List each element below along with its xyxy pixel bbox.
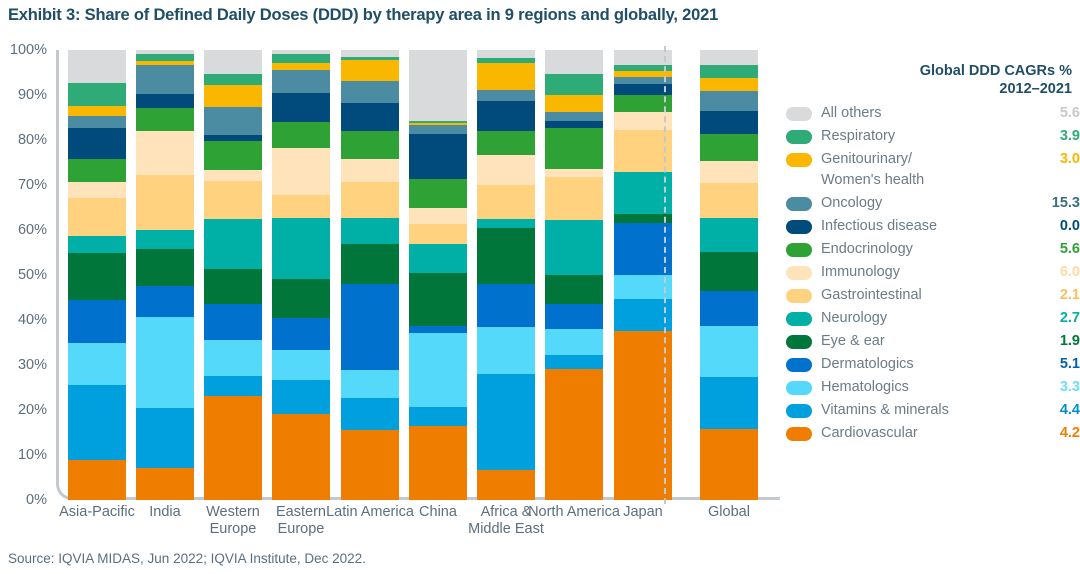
bar-segment[interactable] [341,370,399,399]
legend-cagr-value: 5.6 [1036,103,1080,124]
bar-segment[interactable] [545,355,603,369]
page-title: Exhibit 3: Share of Defined Daily Doses … [8,6,718,25]
legend-swatch-icon [786,335,812,349]
bar-segment[interactable] [341,284,399,370]
chart-page: Exhibit 3: Share of Defined Daily Doses … [0,0,1080,574]
bar-segment[interactable] [68,50,126,83]
stacked-bar[interactable] [272,50,330,500]
bar-segment[interactable] [477,327,535,374]
x-axis-label: Global [683,504,775,521]
bar-segment[interactable] [136,230,194,249]
bar-segment[interactable] [341,103,399,131]
legend-label: Dermatologics [821,354,1036,375]
bar-segment[interactable] [136,175,194,231]
bar-segment[interactable] [700,252,758,292]
bar-segment[interactable] [477,185,535,218]
legend-cagr-value: 4.2 [1036,423,1080,444]
legend-cagr-value: 2.1 [1036,285,1080,306]
bar-segment[interactable] [204,376,262,396]
legend-label: Respiratory [821,126,1036,147]
legend-cagr-value: 4.4 [1036,400,1080,421]
category-divider [664,46,666,504]
bar-segment[interactable] [136,317,194,408]
y-axis-tick: 30% [18,357,47,373]
y-axis-tick: 40% [18,312,47,328]
legend-swatch-icon [786,404,812,418]
legend-label: Infectious disease [821,216,1036,237]
bar-segment[interactable] [272,350,330,380]
bar-segment[interactable] [341,218,399,244]
bar-segment[interactable] [204,219,262,269]
legend-item[interactable]: Immunology6.0 [786,262,1080,283]
bar-segment[interactable] [341,50,399,57]
legend-item[interactable]: Gastrointestinal2.1 [786,285,1080,306]
legend-header-line1: Global DDD CAGRs % [786,62,1072,80]
bar-segment[interactable] [341,60,399,81]
legend-item[interactable]: Vitamins & minerals4.4 [786,400,1080,421]
bar-segment[interactable] [68,106,126,116]
legend-label: Genitourinary/ Women's health [821,149,1036,191]
legend-item[interactable]: Endocrinology5.6 [786,239,1080,260]
bar-segment[interactable] [204,170,262,181]
stacked-bar[interactable] [545,50,603,500]
bar-segment[interactable] [136,468,194,500]
stacked-bar[interactable] [409,50,467,500]
bar-segment[interactable] [136,94,194,108]
bar-segment[interactable] [700,326,758,377]
legend-cagr-value: 3.0 [1036,149,1080,170]
bar-segment[interactable] [68,198,126,236]
bar-segment[interactable] [545,329,603,354]
y-axis-tick: 90% [18,87,47,103]
bar-segment[interactable] [272,148,330,195]
legend-cagr-value: 3.9 [1036,126,1080,147]
x-axis-label: Japan [597,504,689,521]
legend-label: Eye & ear [821,331,1036,352]
bar-segment[interactable] [700,50,758,65]
y-axis-tick: 80% [18,132,47,148]
stacked-bar[interactable] [204,50,262,500]
bar-segment[interactable] [409,426,467,500]
bar-segment[interactable] [477,50,535,58]
bar-segment[interactable] [409,333,467,407]
legend-cagr-value: 5.1 [1036,354,1080,375]
bar-segment[interactable] [545,304,603,330]
y-axis-tick: 20% [18,402,47,418]
bar-segment[interactable] [341,81,399,103]
bar-segment[interactable] [477,470,535,500]
bar-segment[interactable] [68,300,126,344]
bar-segment[interactable] [204,181,262,219]
bar-segment[interactable] [545,128,603,169]
bar-segment[interactable] [545,74,603,95]
bar-segment[interactable] [272,218,330,279]
bar-segment[interactable] [68,385,126,460]
legend-header-line2: 2012–2021 [786,80,1072,98]
legend-item[interactable]: All others5.6 [786,103,1080,124]
bar-segment[interactable] [409,208,467,225]
bar-segment[interactable] [272,63,330,70]
bar-segment[interactable] [700,91,758,110]
legend-label: All others [821,103,1036,124]
bar-segment[interactable] [68,460,126,500]
legend-swatch-icon [786,381,812,395]
bar-segment[interactable] [272,70,330,92]
legend-cagr-value: 0.0 [1036,216,1080,237]
bar-segment[interactable] [409,326,467,334]
bar-segment[interactable] [272,414,330,500]
legend-item[interactable]: Hematologics3.3 [786,377,1080,398]
legend-swatch-icon [786,107,812,121]
bar-segment[interactable] [68,116,126,128]
bar-segment[interactable] [204,269,262,304]
legend-swatch-icon [786,197,812,211]
bar-segment[interactable] [136,408,194,468]
bar-segment[interactable] [700,111,758,134]
bar-segment[interactable] [409,50,467,120]
bar-segment[interactable] [204,141,262,170]
legend-label: Oncology [821,193,1036,214]
legend-cagr-value: 5.6 [1036,239,1080,260]
bar-segment[interactable] [341,182,399,217]
legend-cagr-value: 15.3 [1036,193,1080,214]
legend-label: Neurology [821,308,1036,329]
bar-segment[interactable] [204,85,262,107]
bar-segment[interactable] [136,131,194,174]
legend-swatch-icon [786,289,812,303]
legend-swatch-icon [786,243,812,257]
bar-segment[interactable] [204,304,262,340]
bar-segment[interactable] [545,177,603,220]
bar-segment[interactable] [409,407,467,425]
bar-segment[interactable] [477,155,535,185]
legend-item[interactable]: Respiratory3.9 [786,126,1080,147]
legend-item[interactable]: Genitourinary/ Women's health3.0 [786,149,1080,191]
bar-segment[interactable] [68,159,126,182]
legend-item[interactable]: Oncology15.3 [786,193,1080,214]
bar-segment[interactable] [136,249,194,286]
y-axis-tick: 60% [18,222,47,238]
bar-segment[interactable] [477,219,535,228]
bar-segment[interactable] [68,182,126,198]
bar-segment[interactable] [272,122,330,148]
legend-item[interactable]: Eye & ear1.9 [786,331,1080,352]
bar-segment[interactable] [272,93,330,123]
legend-item[interactable]: Cardiovascular4.2 [786,423,1080,444]
bar-segment[interactable] [204,396,262,500]
bar-segment[interactable] [136,108,194,132]
bar-segment[interactable] [68,236,126,253]
legend-swatch-icon [786,130,812,144]
bar-segment[interactable] [545,369,603,500]
bar-segment[interactable] [700,377,758,429]
bar-segment[interactable] [272,318,330,351]
bar-segment[interactable] [700,218,758,252]
bar-segment[interactable] [409,224,467,244]
bar-segment[interactable] [136,65,194,94]
bar-segment[interactable] [409,179,467,208]
bar-segment[interactable] [477,101,535,131]
bar-segment[interactable] [545,112,603,121]
bar-segment[interactable] [272,380,330,414]
bar-segment[interactable] [272,279,330,318]
y-axis-tick: 70% [18,177,47,193]
bar-segment[interactable] [409,244,467,273]
bar-segment[interactable] [477,90,535,101]
bar-segment[interactable] [136,54,194,61]
bar-segment[interactable] [341,430,399,500]
legend-cagr-value: 1.9 [1036,331,1080,352]
bar-segment[interactable] [68,343,126,385]
bar-segment[interactable] [545,275,603,304]
bar-segment[interactable] [204,50,262,73]
legend-item[interactable]: Neurology2.7 [786,308,1080,329]
legend-label: Hematologics [821,377,1036,398]
legend-cagr-value: 2.7 [1036,308,1080,329]
stacked-bar[interactable] [68,50,126,500]
bar-segment[interactable] [204,107,262,135]
bar-segment[interactable] [409,134,467,179]
bar-segment[interactable] [700,291,758,326]
y-axis-tick: 100% [10,42,47,58]
bar-segment[interactable] [341,131,399,158]
legend-swatch-icon [786,312,812,326]
bar-segment[interactable] [545,220,603,275]
source-note: Source: IQVIA MIDAS, Jun 2022; IQVIA Ins… [8,551,366,566]
bar-segment[interactable] [700,65,758,78]
legend-label: Cardiovascular [821,423,1036,444]
bar-segment[interactable] [272,54,330,63]
legend-label: Endocrinology [821,239,1036,260]
bar-segment[interactable] [477,228,535,284]
legend-swatch-icon [786,358,812,372]
bar-segment[interactable] [204,340,262,375]
legend-rows: All others5.6Respiratory3.9Genitourinary… [786,103,1080,444]
bar-segment[interactable] [341,244,399,284]
bar-segment[interactable] [700,161,758,184]
bar-segment[interactable] [477,284,535,327]
bar-segment[interactable] [477,131,535,155]
legend-item[interactable]: Dermatologics5.1 [786,354,1080,375]
y-axis-tick: 0% [26,492,47,508]
bar-segment[interactable] [136,286,194,317]
y-axis-tick: 50% [18,267,47,283]
bar-segment[interactable] [700,183,758,218]
bar-segment[interactable] [700,78,758,92]
legend-label: Gastrointestinal [821,285,1036,306]
legend-swatch-icon [786,266,812,280]
bar-segment[interactable] [204,74,262,86]
bar-segment[interactable] [477,374,535,470]
legend-cagr-value: 3.3 [1036,377,1080,398]
bar-segment[interactable] [545,169,603,177]
stacked-bar[interactable] [136,50,194,500]
stacked-bar[interactable] [700,50,758,500]
bar-segment[interactable] [341,398,399,429]
bar-segment[interactable] [272,195,330,218]
legend-header: Global DDD CAGRs % 2012–2021 [786,62,1072,98]
legend: Global DDD CAGRs % 2012–2021 All others5… [786,62,1080,446]
legend-swatch-icon [786,153,812,167]
legend-cagr-value: 6.0 [1036,262,1080,283]
bar-segment[interactable] [700,429,758,500]
legend-label: Vitamins & minerals [821,400,1036,421]
bar-segment[interactable] [341,159,399,183]
legend-label: Immunology [821,262,1036,283]
bar-segment[interactable] [545,50,603,74]
bar-segment[interactable] [477,63,535,90]
bar-segment[interactable] [68,83,126,106]
stacked-bar[interactable] [341,50,399,500]
bar-segment[interactable] [68,253,126,300]
legend-item[interactable]: Infectious disease0.0 [786,216,1080,237]
bar-segment[interactable] [409,125,467,134]
bar-segment[interactable] [545,95,603,112]
legend-swatch-icon [786,220,812,234]
stacked-bar[interactable] [477,50,535,500]
bar-segment[interactable] [700,134,758,161]
legend-swatch-icon [786,427,812,441]
y-axis-tick: 10% [18,447,47,463]
plot-area: 0%10%20%30%40%50%60%70%80%90%100% Asia-P… [56,50,780,500]
bar-segment[interactable] [409,273,467,326]
bar-segment[interactable] [68,128,126,159]
